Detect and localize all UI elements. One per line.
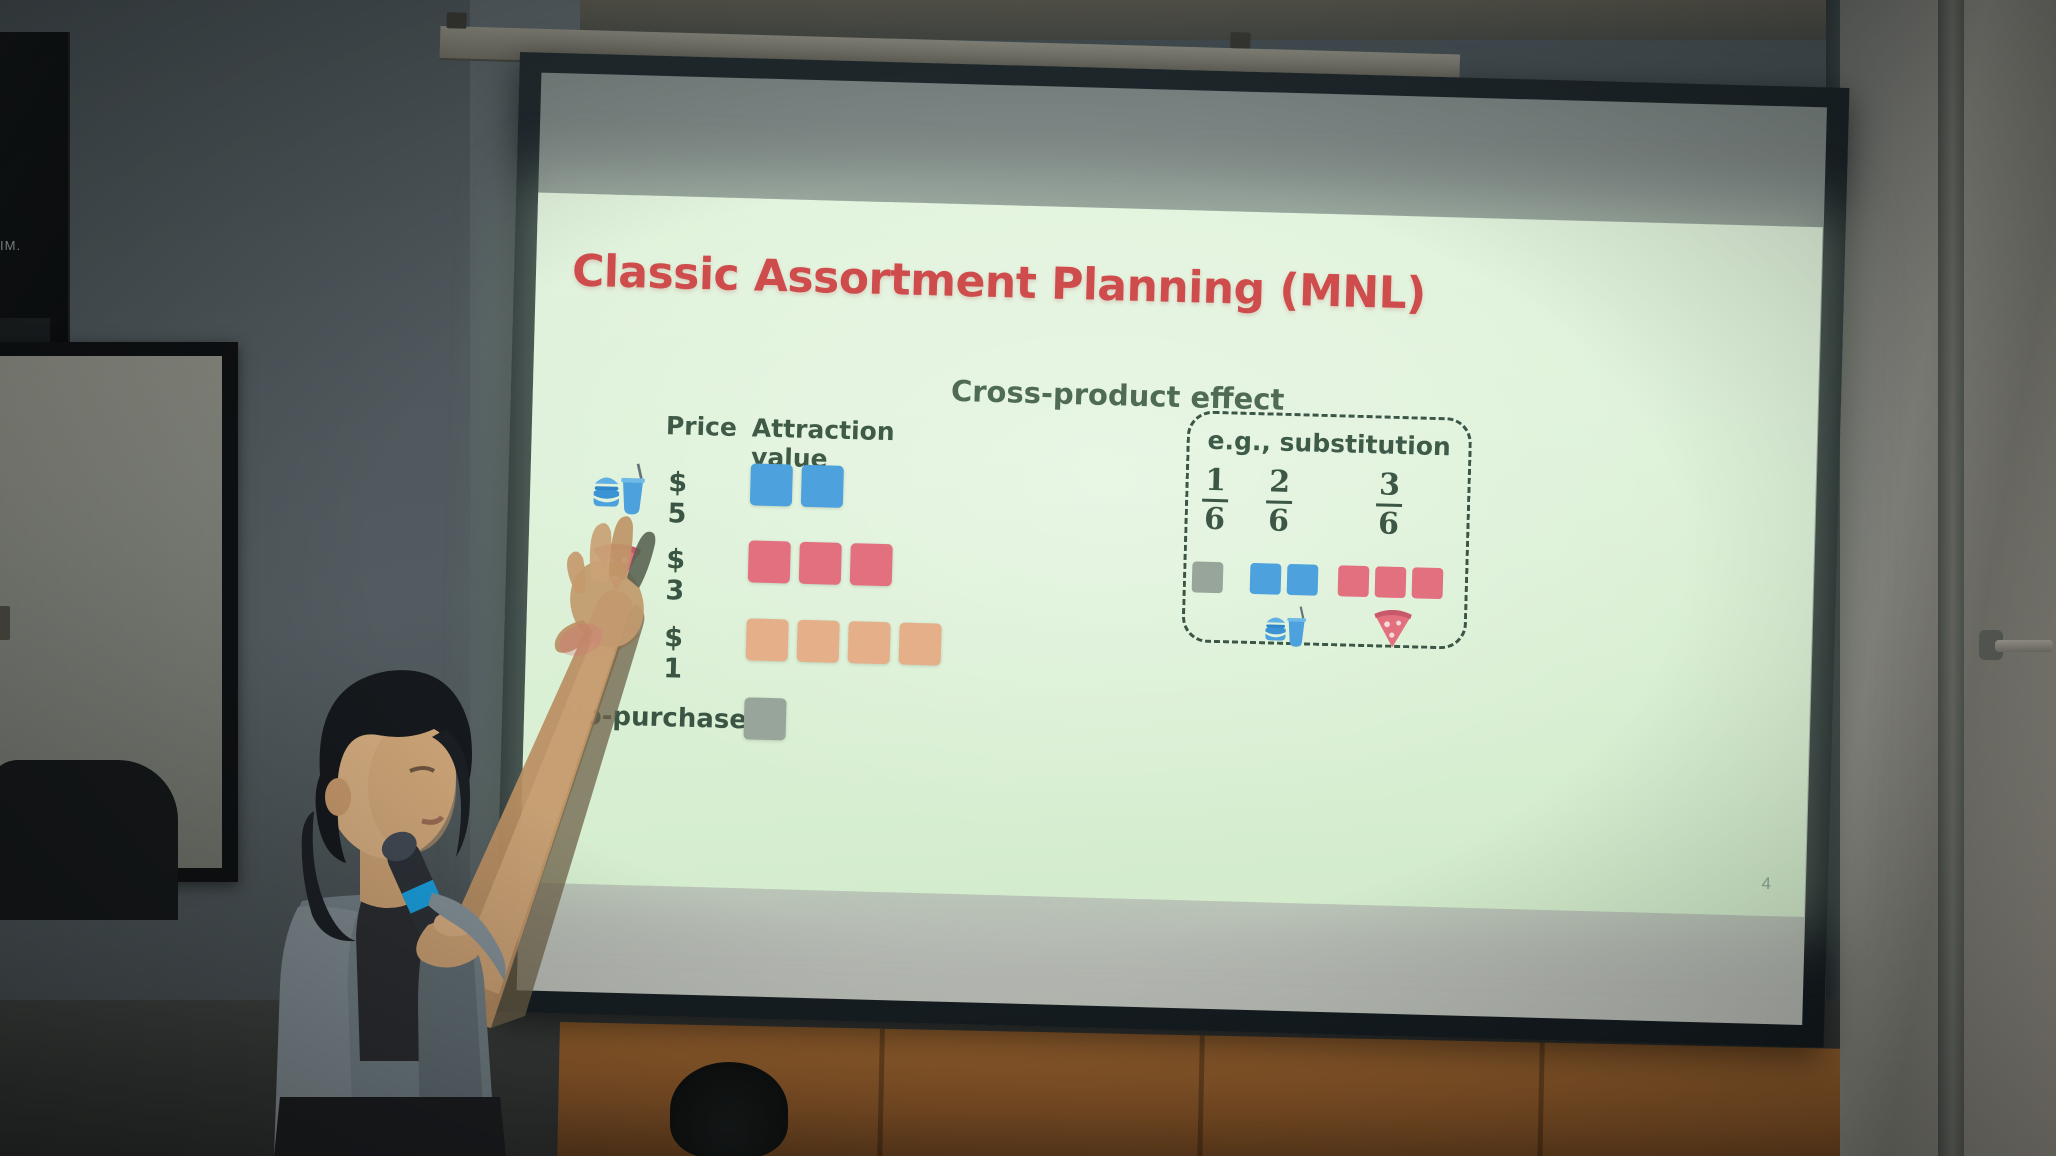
door-handle[interactable]	[1995, 640, 2053, 652]
attraction-square	[746, 618, 789, 661]
chair-silhouette	[0, 760, 178, 920]
pizza-slice-icon	[587, 534, 647, 594]
attraction-square	[743, 697, 786, 740]
hotdog-icon	[585, 612, 645, 672]
callout-square	[1287, 564, 1319, 596]
attraction-square	[797, 620, 840, 663]
callout-squares-group-1	[1192, 561, 1224, 593]
callout-square	[1192, 561, 1224, 593]
attraction-square	[748, 540, 791, 583]
callout-group-2: 2 6	[1265, 467, 1293, 537]
attraction-square	[899, 622, 942, 665]
fraction-one-sixth: 1 6	[1201, 466, 1229, 536]
fraction-numerator: 1	[1205, 466, 1227, 497]
fraction-two-sixths: 2 6	[1265, 467, 1293, 537]
attraction-squares-row	[743, 697, 786, 740]
attraction-squares-row	[750, 463, 844, 508]
substitution-callout-box: e.g., substitution 1 6 2	[1181, 410, 1472, 650]
lecture-room-photo: IM. Classic Assortment Planning (MNL) Cr…	[0, 0, 2056, 1156]
attraction-squares-row	[746, 618, 942, 665]
callout-square	[1412, 567, 1444, 599]
callout-group-1: 1 6	[1201, 466, 1229, 536]
table-row: $ 5	[589, 457, 591, 519]
fraction-denominator: 6	[1378, 509, 1400, 540]
fraction-numerator: 3	[1379, 470, 1401, 501]
slide-subtitle: Cross-product effect	[951, 374, 1285, 417]
fraction-denominator: 6	[1268, 506, 1290, 537]
column-header-price: Price	[666, 411, 738, 442]
attraction-square	[850, 543, 893, 586]
slide-page-number: 4	[1761, 874, 1771, 894]
attraction-squares-row	[748, 540, 893, 586]
slide-title: Classic Assortment Planning (MNL)	[571, 245, 1426, 319]
no-purchase-label: No-purchase	[562, 700, 748, 735]
attraction-square	[799, 542, 842, 585]
callout-squares-group-2	[1250, 563, 1319, 596]
burger-drink-icon	[1262, 601, 1309, 648]
callout-square	[1250, 563, 1282, 595]
attraction-square	[848, 621, 891, 664]
callout-group-3: 3 6	[1375, 470, 1403, 540]
fraction-three-sixths: 3 6	[1375, 470, 1403, 540]
attraction-square	[801, 465, 844, 508]
pizza-slice-icon	[1369, 602, 1416, 649]
table-row: $ 1	[585, 612, 587, 674]
table-row: $ 3	[587, 534, 589, 596]
price-value: $ 3	[665, 544, 685, 606]
speaker-brand-label: IM.	[0, 238, 48, 253]
fraction-numerator: 2	[1269, 467, 1291, 498]
callout-title: e.g., substitution	[1189, 425, 1469, 462]
projector-screen: Classic Assortment Planning (MNL) Cross-…	[494, 52, 1849, 1048]
callout-square	[1375, 566, 1407, 598]
audience-head	[670, 1062, 788, 1156]
projected-slide: Classic Assortment Planning (MNL) Cross-…	[520, 193, 1823, 918]
whiteboard-marker	[0, 606, 10, 640]
table-row: No-purchase	[583, 691, 585, 753]
wall-speaker	[0, 32, 70, 342]
price-value: $ 5	[667, 467, 687, 529]
attraction-square	[750, 463, 793, 506]
burger-drink-icon	[590, 457, 650, 517]
fraction-denominator: 6	[1204, 505, 1226, 536]
price-value: $ 1	[663, 622, 683, 684]
door-frame	[1938, 0, 1964, 1156]
callout-squares-group-3	[1338, 565, 1444, 599]
callout-square	[1338, 565, 1370, 597]
